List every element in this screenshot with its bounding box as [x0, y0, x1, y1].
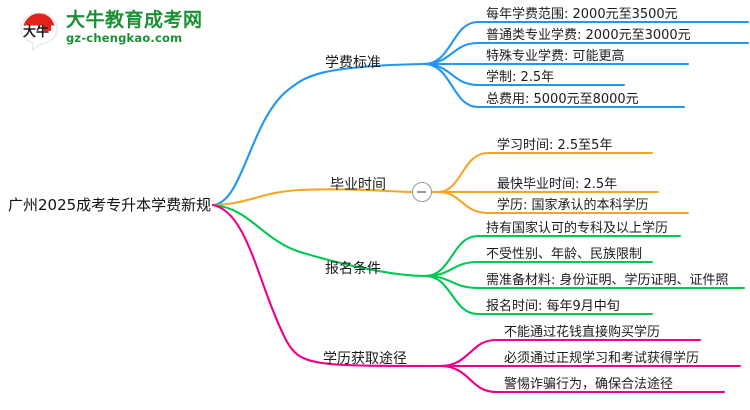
wire-branch1-child4 — [424, 64, 478, 85]
wire-branch2-child3 — [438, 192, 488, 213]
leaf-node-b1-c4[interactable]: 学制: 2.5年 — [486, 71, 554, 84]
leaf-node-b3-c4[interactable]: 报名时间: 每年9月中旬 — [486, 300, 620, 313]
leaf-node-b4-c3[interactable]: 警惕诈骗行为，确保合法途径 — [504, 378, 673, 391]
leaf-node-b1-c3[interactable]: 特殊专业学费: 可能更高 — [486, 50, 625, 63]
wire-root-to-branch-1 — [213, 64, 424, 205]
branch-node-baoming-tiaojian[interactable]: 报名条件 — [325, 262, 381, 276]
leaf-node-b2-c2[interactable]: 最快毕业时间: 2.5年 — [497, 178, 617, 191]
leaf-node-b3-c1[interactable]: 持有国家认可的专科及以上学历 — [486, 222, 668, 235]
leaf-node-b2-c3[interactable]: 学历: 国家承认的本科学历 — [497, 199, 649, 212]
leaf-node-b4-c1[interactable]: 不能通过花钱直接购买学历 — [504, 326, 660, 339]
leaf-node-b4-c2[interactable]: 必须通过正规学习和考试获得学历 — [504, 352, 699, 365]
mindmap-root-node[interactable]: 广州2025成考专升本学费新规 — [8, 198, 211, 213]
wire-branch4-child3 — [440, 366, 496, 392]
wire-branch1-child5 — [424, 64, 478, 107]
wire-root-to-branch-3 — [213, 205, 425, 276]
leaf-node-b3-c3[interactable]: 需准备材料: 身份证明、学历证明、证件照 — [486, 274, 729, 287]
leaf-node-b1-c2[interactable]: 普通类专业学费: 2000元至3000元 — [486, 29, 691, 42]
branch-node-biye-shijian[interactable]: 毕业时间 — [330, 178, 386, 192]
wire-branch2-child1 — [438, 153, 488, 192]
branch-node-xuefei-biaozhun[interactable]: 学费标准 — [325, 56, 381, 70]
leaf-node-b3-c2[interactable]: 不受性别、年龄、民族限制 — [486, 248, 642, 261]
wire-branch4-child1 — [440, 340, 496, 366]
leaf-node-b1-c1[interactable]: 每年学费范围: 2000元至3500元 — [486, 8, 678, 21]
wire-branch1-child2 — [424, 43, 478, 64]
minus-circle-icon[interactable] — [412, 182, 432, 202]
wire-root-to-branch-4 — [213, 205, 440, 366]
leaf-node-b2-c1[interactable]: 学习时间: 2.5至5年 — [497, 139, 612, 152]
branch-node-xueli-huoqu-tujing[interactable]: 学历获取途径 — [323, 352, 407, 366]
mindmap-canvas: 大牛 大牛教育成考网 gz-chengkao.com — [0, 0, 750, 410]
leaf-node-b1-c5[interactable]: 总费用: 5000元至8000元 — [486, 93, 639, 106]
